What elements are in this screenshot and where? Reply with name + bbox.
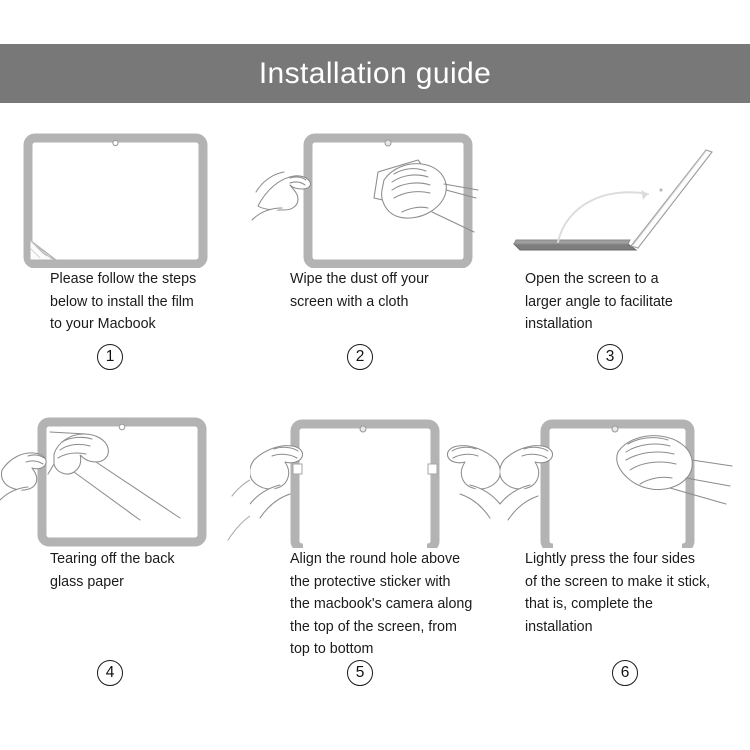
steps-row-top: Please follow the steps below to install… <box>0 128 750 408</box>
step-number-badge: 4 <box>97 660 123 686</box>
step-card-1: Please follow the steps below to install… <box>0 128 250 408</box>
steps-row-bottom: Tearing off the back glass paper 4 <box>0 408 750 708</box>
step-3-number-wrap: 3 <box>485 344 735 370</box>
step-number-badge: 1 <box>97 344 123 370</box>
page-title: Installation guide <box>259 59 491 89</box>
step-2-illustration <box>250 128 500 268</box>
step-card-2: Wipe the dust off your screen with a clo… <box>250 128 500 408</box>
step-2-caption: Wipe the dust off your screen with a clo… <box>262 268 485 313</box>
step-1-caption: Please follow the steps below to install… <box>12 268 245 336</box>
step-4-illustration <box>0 408 250 548</box>
step-2-number-wrap: 2 <box>235 344 485 370</box>
step-number-badge: 6 <box>612 660 638 686</box>
step-card-4: Tearing off the back glass paper 4 <box>0 408 250 708</box>
step-1-illustration <box>0 128 250 268</box>
installation-guide-page: Installation guide <box>0 0 750 750</box>
step-number-badge: 5 <box>347 660 373 686</box>
step-4-number-wrap: 4 <box>0 660 235 686</box>
step-5-illustration <box>250 408 500 548</box>
step-card-6: Lightly press the four sides of the scre… <box>500 408 750 708</box>
step-6-illustration <box>500 408 750 548</box>
step-card-3: Open the screen to a larger angle to fac… <box>500 128 750 408</box>
steps-grid: Please follow the steps below to install… <box>0 128 750 708</box>
step-number-badge: 3 <box>597 344 623 370</box>
step-card-5: Align the round hole above the protectiv… <box>250 408 500 708</box>
step-number-badge: 2 <box>347 344 373 370</box>
step-3-caption: Open the screen to a larger angle to fac… <box>512 268 720 336</box>
header-banner: Installation guide <box>0 44 750 103</box>
step-4-caption: Tearing off the back glass paper <box>12 548 245 593</box>
step-1-number-wrap: 1 <box>0 344 235 370</box>
step-6-caption: Lightly press the four sides of the scre… <box>512 548 720 638</box>
step-3-illustration <box>500 128 750 268</box>
step-6-number-wrap: 6 <box>500 660 750 686</box>
step-5-number-wrap: 5 <box>235 660 485 686</box>
step-5-caption: Align the round hole above the protectiv… <box>262 548 485 661</box>
